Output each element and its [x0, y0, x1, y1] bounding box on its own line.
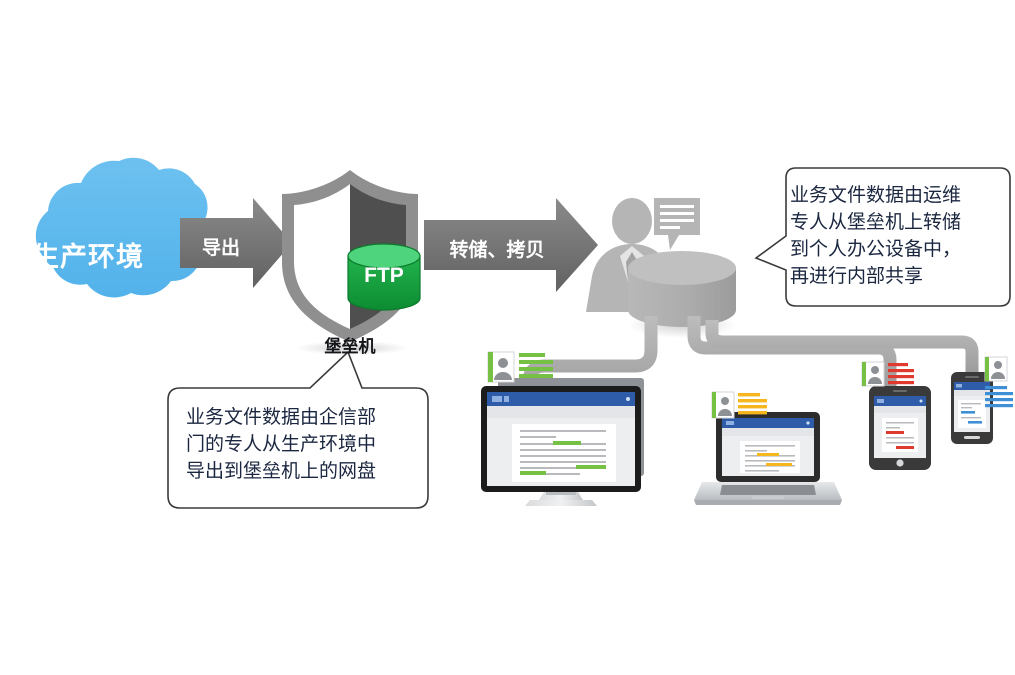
transfer-arrow-label: 转储、拷贝 — [432, 235, 562, 262]
ftp-label: FTP — [352, 264, 416, 288]
diagram-canvas: 生产环境 导出 转储、拷贝 FTP 堡垒机 业务文件数据由企信部 门的专人从生产… — [0, 0, 1015, 675]
bastion-host-label: 堡垒机 — [310, 332, 390, 357]
laptop-shape — [694, 412, 842, 505]
desktop-monitor-shape — [481, 378, 644, 506]
diagram-graphics — [0, 0, 1015, 675]
laptop-avatar-card — [712, 392, 767, 418]
production-cloud-label: 生产环境 — [8, 235, 168, 274]
callout-right-text: 业务文件数据由运维 专人从堡垒机上转储 到个人办公设备中， 再进行内部共享 — [790, 182, 1004, 290]
export-arrow-label: 导出 — [188, 233, 254, 260]
storage-cylinder-shape — [628, 251, 736, 338]
tablet-shape — [869, 386, 931, 470]
desktop-avatar-card — [488, 352, 553, 382]
smartphone-shape — [951, 372, 993, 444]
callout-left-text: 业务文件数据由企信部 门的专人从生产环境中 导出到堡垒机上的网盘 — [186, 404, 418, 485]
